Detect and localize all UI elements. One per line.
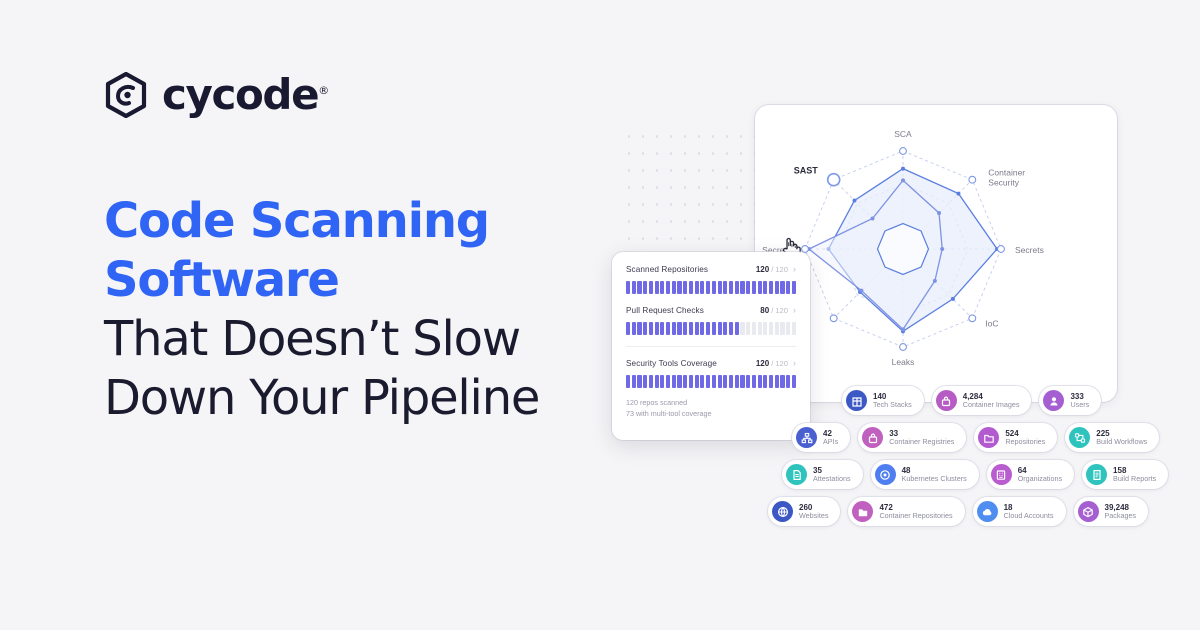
progress-segment	[735, 375, 739, 388]
progress-segment	[655, 322, 659, 335]
progress-segment	[689, 281, 693, 294]
cycode-hex-logo-icon	[104, 72, 148, 118]
metric-total: 120	[775, 306, 788, 315]
progress-segment	[660, 322, 664, 335]
metric-separator: /	[771, 306, 773, 315]
metric-row[interactable]: Security Tools Coverage 120 / 120 ›	[626, 346, 796, 388]
headline-line-3: That Doesn’t Slow	[104, 310, 624, 369]
progress-segment	[632, 281, 636, 294]
stat-pill-row: 260Websites472Container Repositories18Cl…	[760, 497, 1180, 526]
stat-pill[interactable]: 48Kubernetes Clusters	[871, 460, 979, 489]
stat-pill[interactable]: 64Organizations	[987, 460, 1074, 489]
stat-label: APIs	[823, 438, 838, 446]
container-image-icon	[936, 390, 957, 411]
radar-axis-label: Secrets	[1015, 245, 1044, 255]
progress-segment	[706, 375, 710, 388]
progress-segment	[683, 375, 687, 388]
progress-segment	[758, 281, 762, 294]
progress-segment	[763, 281, 767, 294]
progress-segment	[775, 322, 779, 335]
progress-segment	[695, 375, 699, 388]
progress-segment	[677, 281, 681, 294]
progress-segment	[626, 375, 630, 388]
progress-segment	[700, 375, 704, 388]
stat-label: Tech Stacks	[873, 401, 912, 409]
progress-segment	[752, 281, 756, 294]
stat-pill[interactable]: 333Users	[1039, 386, 1101, 415]
stat-pill-row: 140Tech Stacks4,284Container Images333Us…	[760, 386, 1180, 415]
cloud-account-icon	[977, 501, 998, 522]
progress-segment	[746, 281, 750, 294]
stat-label: Kubernetes Clusters	[902, 475, 967, 483]
progress-segment	[718, 281, 722, 294]
stat-pill[interactable]: 39,248Packages	[1074, 497, 1149, 526]
radar-axis-node[interactable]	[830, 315, 837, 322]
progress-segment	[786, 322, 790, 335]
progress-segment	[643, 375, 647, 388]
package-icon	[1078, 501, 1099, 522]
progress-segment	[637, 281, 641, 294]
stat-label: Repositories	[1005, 438, 1045, 446]
chevron-right-icon[interactable]: ›	[793, 358, 796, 368]
globe-website-icon	[772, 501, 793, 522]
stat-pill[interactable]: 140Tech Stacks	[842, 386, 924, 415]
progress-segment	[786, 281, 790, 294]
stat-pill[interactable]: 4,284Container Images	[932, 386, 1032, 415]
progress-segment	[677, 322, 681, 335]
progress-segment	[769, 322, 773, 335]
stat-label: Container Repositories	[879, 512, 952, 520]
stat-label: Websites	[799, 512, 828, 520]
progress-segment	[723, 322, 727, 335]
progress-segment	[758, 322, 762, 335]
container-repository-icon	[852, 501, 873, 522]
metric-row[interactable]: Scanned Repositories 120 / 120 ›	[626, 264, 796, 294]
progress-segment	[672, 281, 676, 294]
radar-data-point	[940, 247, 944, 251]
progress-segment	[677, 375, 681, 388]
metric-title: Security Tools Coverage	[626, 359, 717, 368]
radar-axis-label: IoC	[985, 318, 998, 328]
progress-segment	[683, 281, 687, 294]
stat-pill[interactable]: 35Attestations	[782, 460, 863, 489]
progress-segment	[752, 375, 756, 388]
progress-segment	[740, 322, 744, 335]
radar-data-point	[937, 211, 941, 215]
progress-segment	[660, 281, 664, 294]
progress-segment	[740, 281, 744, 294]
stat-label: Cloud Accounts	[1004, 512, 1054, 520]
api-node-icon	[796, 427, 817, 448]
progress-segment	[775, 281, 779, 294]
progress-segment	[780, 322, 784, 335]
metric-row[interactable]: Pull Request Checks 80 / 120 ›	[626, 305, 796, 335]
stat-pill[interactable]: 42APIs	[792, 423, 850, 452]
stat-label: Organizations	[1018, 475, 1062, 483]
metric-current: 80	[760, 306, 769, 315]
radar-data-point	[951, 297, 955, 301]
progress-segment	[729, 375, 733, 388]
progress-segment	[712, 281, 716, 294]
headline-line-4: Down Your Pipeline	[104, 369, 624, 428]
progress-segment	[700, 281, 704, 294]
stat-label: Container Registries	[889, 438, 954, 446]
progress-segment	[712, 322, 716, 335]
metric-progress-bars	[626, 322, 796, 335]
progress-segment	[666, 322, 670, 335]
progress-segment	[763, 322, 767, 335]
radar-axis-node[interactable]	[900, 344, 907, 351]
progress-segment	[700, 322, 704, 335]
stat-label: Container Images	[963, 401, 1020, 409]
progress-segment	[689, 375, 693, 388]
progress-segment	[683, 322, 687, 335]
progress-segment	[649, 281, 653, 294]
stat-label: Build Reports	[1113, 475, 1156, 483]
stat-pill[interactable]: 158Build Reports	[1082, 460, 1168, 489]
metric-total: 120	[775, 265, 788, 274]
tech-stack-icon	[846, 390, 867, 411]
metric-value: 80 / 120 ›	[760, 305, 796, 315]
metric-current: 120	[756, 359, 769, 368]
container-registry-icon	[862, 427, 883, 448]
progress-segment	[740, 375, 744, 388]
repository-folder-icon	[978, 427, 999, 448]
build-report-icon	[1086, 464, 1107, 485]
radar-data-point	[901, 167, 905, 171]
progress-segment	[637, 322, 641, 335]
stat-pill-row: 35Attestations48Kubernetes Clusters64Org…	[760, 460, 1180, 489]
radar-axis-node[interactable]	[828, 174, 840, 186]
progress-segment	[723, 375, 727, 388]
stat-pill[interactable]: 524Repositories	[974, 423, 1057, 452]
progress-segment	[643, 322, 647, 335]
progress-segment	[649, 322, 653, 335]
radar-axis-node[interactable]	[998, 246, 1005, 253]
progress-segment	[723, 281, 727, 294]
progress-segment	[626, 281, 630, 294]
progress-segment	[655, 375, 659, 388]
progress-segment	[695, 322, 699, 335]
progress-segment	[712, 375, 716, 388]
metric-value: 120 / 120 ›	[756, 264, 796, 274]
progress-segment	[695, 281, 699, 294]
progress-segment	[746, 322, 750, 335]
progress-segment	[632, 375, 636, 388]
kubernetes-cluster-icon	[875, 464, 896, 485]
progress-segment	[729, 322, 733, 335]
progress-segment	[792, 322, 796, 335]
registered-mark: ®	[318, 84, 329, 97]
stat-pill[interactable]: 260Websites	[768, 497, 840, 526]
progress-segment	[735, 281, 739, 294]
attestation-doc-icon	[786, 464, 807, 485]
metric-value: 120 / 120 ›	[756, 358, 796, 368]
radar-axis-node[interactable]	[969, 315, 976, 322]
progress-segment	[655, 281, 659, 294]
progress-segment	[706, 281, 710, 294]
progress-segment	[660, 375, 664, 388]
radar-axis-node[interactable]	[900, 148, 907, 155]
metric-progress-bars	[626, 281, 796, 294]
stat-pill[interactable]: 225Build Workflows	[1065, 423, 1159, 452]
metric-current: 120	[756, 265, 769, 274]
progress-segment	[718, 375, 722, 388]
poster-canvas: cycode® Code Scanning Software That Does…	[0, 0, 1200, 630]
progress-segment	[792, 281, 796, 294]
stat-label: Packages	[1105, 512, 1137, 520]
progress-segment	[769, 281, 773, 294]
radar-data-point	[859, 289, 863, 293]
progress-segment	[666, 281, 670, 294]
organization-building-icon	[991, 464, 1012, 485]
radar-data-point	[956, 192, 960, 196]
progress-segment	[672, 375, 676, 388]
chevron-right-icon[interactable]: ›	[793, 264, 796, 274]
stat-pill[interactable]: 472Container Repositories	[848, 497, 964, 526]
stat-pill[interactable]: 18Cloud Accounts	[973, 497, 1066, 526]
progress-segment	[643, 281, 647, 294]
radar-data-point	[933, 279, 937, 283]
stat-pill[interactable]: 33Container Registries	[858, 423, 966, 452]
progress-segment	[746, 375, 750, 388]
progress-segment	[718, 322, 722, 335]
page-title: Code Scanning Software That Doesn’t Slow…	[104, 192, 624, 428]
progress-segment	[649, 375, 653, 388]
radar-data-point	[901, 178, 905, 182]
metric-separator: /	[771, 359, 773, 368]
radar-data-point	[852, 198, 856, 202]
metric-title: Pull Request Checks	[626, 306, 704, 315]
radar-axis-node[interactable]	[969, 176, 976, 183]
radar-axis-label: Leaks	[892, 357, 915, 367]
progress-segment	[752, 322, 756, 335]
progress-segment	[632, 322, 636, 335]
headline-line-1: Code Scanning	[104, 192, 624, 251]
metric-separator: /	[771, 265, 773, 274]
progress-segment	[780, 281, 784, 294]
progress-segment	[729, 281, 733, 294]
radar-axis-label: SAST	[794, 166, 819, 176]
headline-line-2: Software	[104, 251, 624, 310]
build-workflow-icon	[1069, 427, 1090, 448]
progress-segment	[735, 322, 739, 335]
progress-segment	[637, 375, 641, 388]
brand-logo[interactable]: cycode®	[104, 72, 329, 118]
brand-name: cycode®	[162, 74, 329, 116]
stat-pill-cloud: 140Tech Stacks4,284Container Images333Us…	[760, 386, 1180, 534]
user-icon	[1043, 390, 1064, 411]
progress-segment	[689, 322, 693, 335]
chevron-right-icon[interactable]: ›	[793, 305, 796, 315]
radar-axis-label: SCA	[894, 129, 912, 139]
radar-axis-label: Container	[988, 168, 1025, 178]
stat-label: Attestations	[813, 475, 851, 483]
progress-segment	[706, 322, 710, 335]
stat-pill-row: 42APIs33Container Registries524Repositor…	[760, 423, 1180, 452]
progress-segment	[666, 375, 670, 388]
progress-segment	[626, 322, 630, 335]
stat-label: Users	[1070, 401, 1089, 409]
stat-label: Build Workflows	[1096, 438, 1147, 446]
metric-title: Scanned Repositories	[626, 265, 708, 274]
progress-segment	[672, 322, 676, 335]
radar-axis-label: Security	[988, 178, 1019, 188]
metric-total: 120	[775, 359, 788, 368]
radar-data-point	[901, 327, 905, 331]
radar-data-point	[871, 217, 875, 221]
